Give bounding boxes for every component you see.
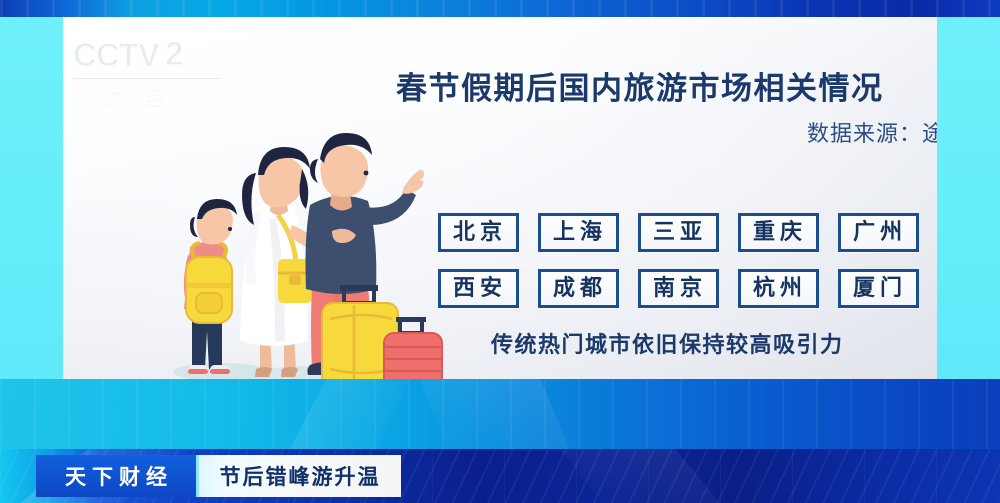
cctv-wordmark: CCTV [73,36,159,74]
city-tag-hangzhou[interactable]: 杭州 [738,269,819,308]
city-tag-beijing[interactable]: 北京 [438,213,519,252]
city-tag-chengdu[interactable]: 成都 [538,269,619,308]
broadcast-graphic: CCTV 2 财 经 [0,0,1000,503]
data-source-label: 数据来源：途牛 [396,116,937,148]
city-tag-row-2: 西安 成都 南京 杭州 厦门 等 [438,269,937,308]
cctv-logo-underline [73,75,221,78]
city-tag-row-1: 北京 上海 三亚 重庆 广州 [438,213,937,252]
city-tag-shanghai[interactable]: 上海 [538,213,619,252]
city-tag-nanjing[interactable]: 南京 [638,269,719,308]
lower-third-banner: 天下财经 节后错峰游升温 [36,455,401,497]
cctv-channel-number: 2 [165,35,183,74]
city-tag-sanya[interactable]: 三亚 [638,213,719,252]
cctv-sub-char-1: 财 [103,81,123,110]
city-tag-chongqing[interactable]: 重庆 [738,213,819,252]
child-figure [184,199,237,374]
page-title: 春节假期后国内旅游市场相关情况 [396,63,937,108]
cctv-logo-row: CCTV 2 [73,35,233,74]
subtitle-text: 传统热门城市依旧保持较高吸引力 [491,327,844,359]
top-gradient-bar [0,0,1000,17]
top-bar-stripes [0,0,1000,17]
right-cyan-stripe [937,17,1000,379]
program-name-badge[interactable]: 天下财经 [36,455,196,497]
topic-headline-badge[interactable]: 节后错峰游升温 [196,455,401,497]
mid-gradient-band [0,379,1000,449]
left-cyan-stripe [0,17,63,379]
city-tag-xian[interactable]: 西安 [438,269,519,308]
cctv-sub-char-2: 经 [145,81,165,110]
city-tag-list: 北京 上海 三亚 重庆 广州 西安 成都 南京 杭州 厦门 等 [438,213,937,308]
city-tag-xiamen[interactable]: 厦门 [838,269,919,308]
city-tag-guangzhou[interactable]: 广州 [838,213,919,252]
content-panel: CCTV 2 财 经 [63,17,937,379]
cctv-logo-subtitle: 财 经 [73,81,233,110]
